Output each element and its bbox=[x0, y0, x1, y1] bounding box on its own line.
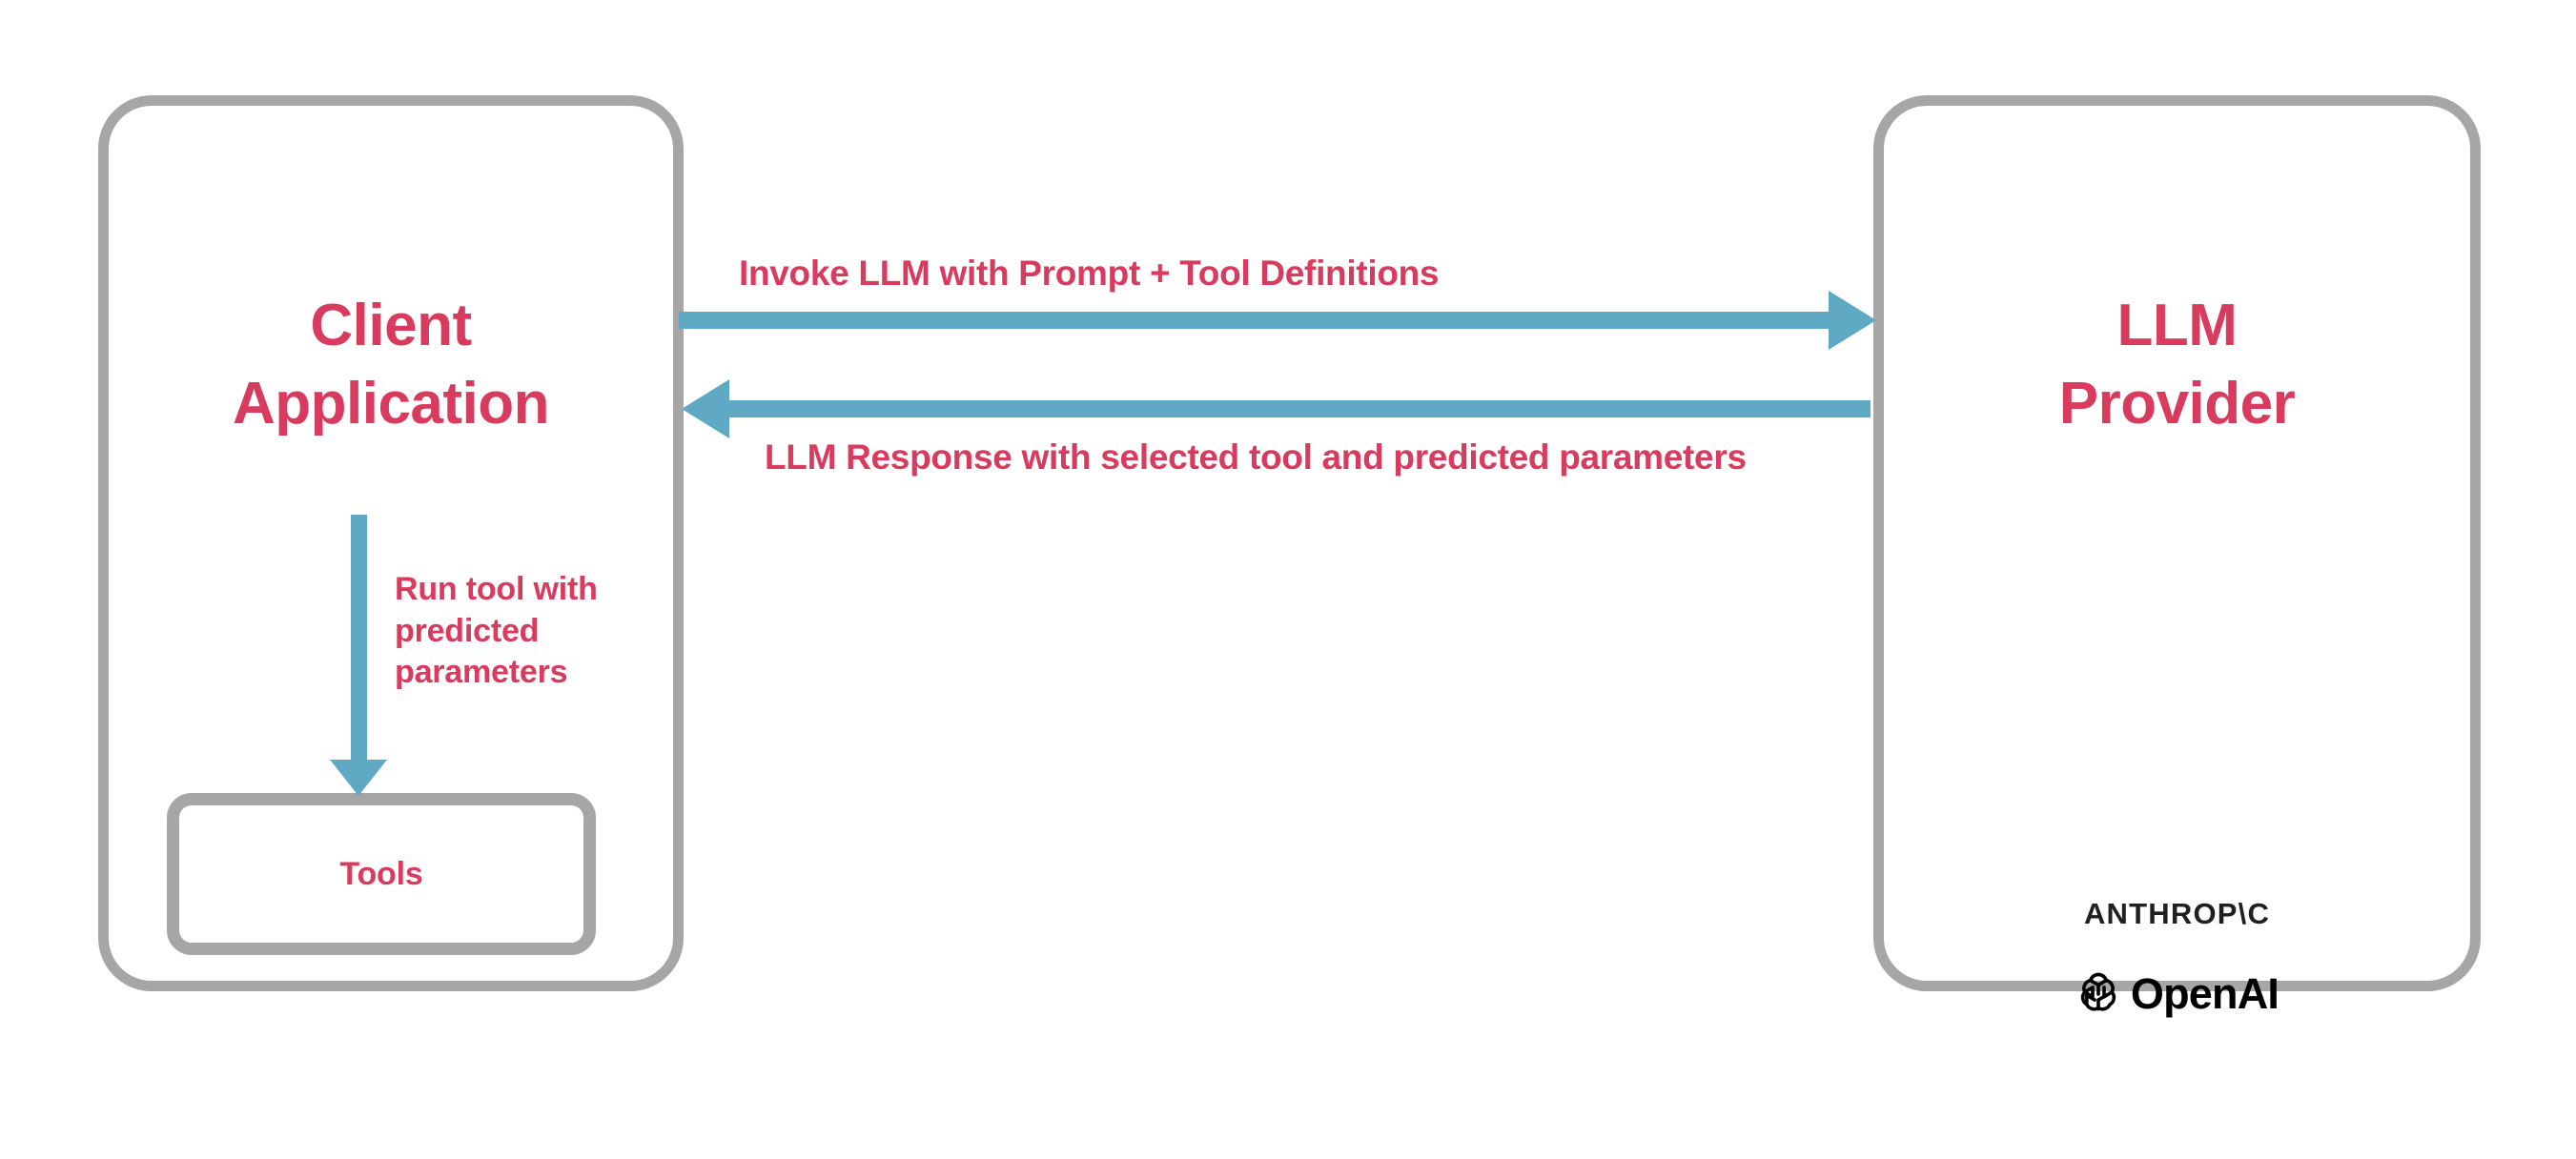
llm-provider-box: LLM Provider ANTHROP\C Open bbox=[1873, 95, 2481, 991]
client-title-line-2: Application bbox=[109, 375, 673, 434]
response-edge-label: LLM Response with selected tool and pred… bbox=[765, 437, 1747, 478]
anthropic-logo: ANTHROP\C bbox=[1884, 897, 2470, 931]
openai-flower-icon bbox=[2075, 968, 2121, 1019]
openai-wordmark: OpenAI bbox=[2131, 972, 2279, 1015]
invoke-edge-label: Invoke LLM with Prompt + Tool Definition… bbox=[739, 253, 1439, 295]
diagram-canvas: Client Application Tools LLM Provider AN… bbox=[0, 0, 2576, 1159]
tools-label: Tools bbox=[339, 856, 422, 893]
openai-logo: OpenAI bbox=[1884, 968, 2470, 1019]
provider-title-line-1: LLM bbox=[1884, 296, 2470, 356]
client-application-title: Client Application bbox=[109, 296, 673, 434]
tools-box: Tools bbox=[167, 793, 596, 955]
llm-provider-title: LLM Provider bbox=[1884, 296, 2470, 434]
run-tool-edge-label: Run tool with predicted parameters bbox=[395, 569, 657, 694]
invoke-arrow bbox=[679, 291, 1876, 350]
response-arrow bbox=[682, 379, 1871, 438]
client-title-line-1: Client bbox=[109, 296, 673, 356]
provider-title-line-2: Provider bbox=[1884, 375, 2470, 434]
